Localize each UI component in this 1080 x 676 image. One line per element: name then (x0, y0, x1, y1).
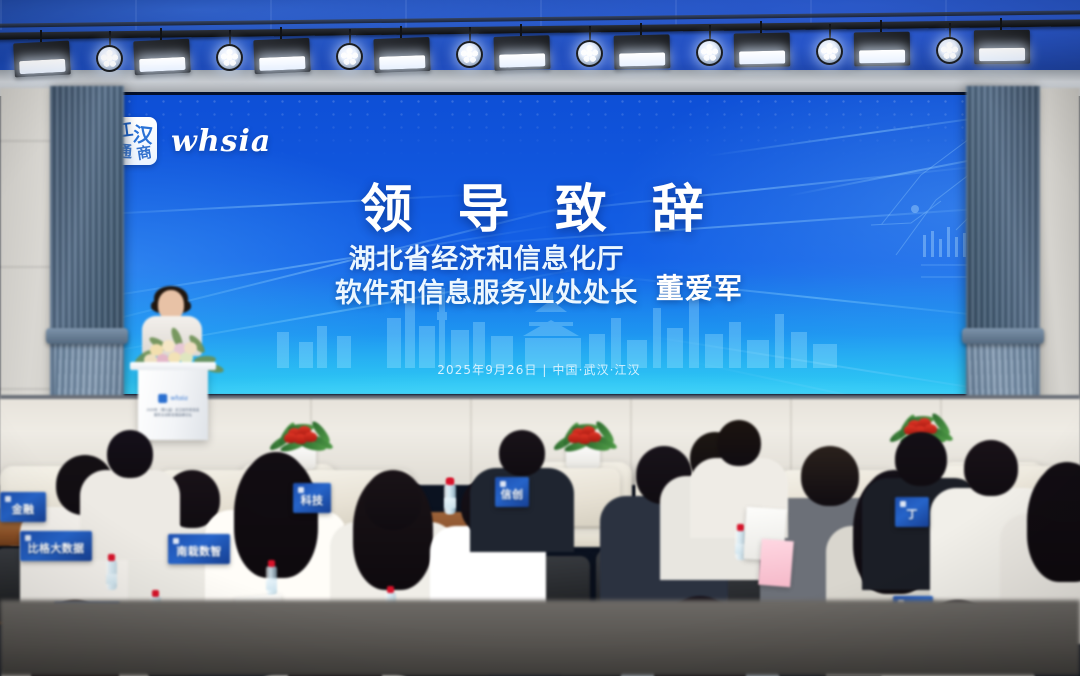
logo-char-2: 汉 (132, 125, 154, 147)
nameplate-logo-icon (5, 496, 11, 502)
water-bottle (266, 566, 277, 596)
floor (0, 600, 1080, 676)
podium-caption-1: 2025年（第九届）武汉软件和信息 (147, 408, 200, 412)
red-bloom (588, 432, 601, 442)
panel-light (854, 32, 911, 67)
par-light (96, 45, 123, 72)
speaker-name: 董爱军 (656, 267, 743, 307)
screen-subtitle-lines: 湖北省经济和信息化厅 软件和信息服务业处处长 (335, 243, 638, 311)
audience-person (80, 430, 180, 568)
red-bloom (284, 433, 297, 443)
person-head (717, 420, 761, 466)
nameplate-text: 信创 (501, 486, 524, 502)
brand-wordmark: whsia (171, 124, 271, 159)
panel-light (253, 38, 310, 74)
podium-logo-word: whsia (170, 395, 188, 402)
desk-nameplate: 信创 (495, 477, 529, 507)
person-head (107, 430, 153, 478)
curtain-right-tieback (962, 328, 1044, 344)
nameplate-text: 丁 (906, 506, 917, 522)
podium-logo: whsia (158, 394, 188, 403)
nameplate-text: 南栽数智 (176, 543, 221, 559)
conference-hall-photo: 江 汉 通 商 whsia 领 导 致 辞 湖北省经济和信息化厅 软件和信息服务… (0, 0, 1080, 676)
panel-light (974, 30, 1030, 65)
par-light (816, 38, 843, 65)
ceiling (0, 0, 1080, 96)
nameplate-logo-icon (25, 535, 31, 541)
panel-light (373, 37, 430, 73)
desk-nameplate: 南栽数智 (168, 534, 230, 564)
nameplate-text: 比格大数据 (28, 540, 85, 556)
logo-char-4: 商 (136, 146, 153, 163)
subtitle-line-2: 软件和信息服务业处处长 (335, 278, 638, 309)
screen-title: 领 导 致 辞 (87, 167, 991, 242)
nameplate-logo-icon (298, 487, 304, 493)
panel-light (13, 41, 71, 78)
par-light (456, 41, 483, 68)
water-bottle (106, 560, 117, 590)
person-head (499, 430, 545, 476)
flower-bud (162, 340, 175, 352)
person-torso (80, 470, 180, 560)
nameplate-text: 科技 (301, 492, 324, 508)
nameplate-logo-icon (500, 481, 506, 487)
subtitle-line-1: 湖北省经济和信息化厅 (349, 244, 624, 275)
panel-light (614, 34, 671, 69)
panel-light (493, 35, 550, 71)
flower-bud (184, 342, 197, 354)
person-head (1038, 462, 1080, 522)
plant-1 (268, 422, 332, 456)
par-light (576, 40, 603, 67)
curtain-left-tieback (46, 328, 128, 344)
par-light (936, 37, 963, 64)
par-light (696, 39, 723, 66)
podium-caption-2: 服务业创新发展高峰论坛 (154, 413, 192, 417)
nameplate-text: 金融 (12, 501, 35, 517)
panel-light (734, 32, 791, 67)
desk-nameplate: 比格大数据 (20, 531, 92, 561)
nameplate-logo-icon (173, 538, 179, 544)
screen-brand-logo: 江 汉 通 商 whsia (111, 117, 271, 165)
water-bottle (445, 484, 456, 514)
audience-paper (758, 539, 794, 587)
par-light (336, 43, 363, 70)
panel-light (133, 39, 191, 76)
par-light (216, 44, 243, 71)
desk-nameplate: 科技 (293, 483, 331, 513)
desk-nameplate: 丁 (895, 497, 929, 527)
desk-nameplate: 金融 (0, 492, 46, 522)
podium-logo-mark (158, 394, 167, 403)
podium-group: whsia 2025年（第九届）武汉软件和信息 服务业创新发展高峰论坛 (118, 290, 228, 440)
nameplate-logo-icon (900, 501, 906, 507)
red-bloom (304, 432, 317, 442)
person-head (364, 470, 422, 530)
podium-caption: 2025年（第九届）武汉软件和信息 服务业创新发展高峰论坛 (143, 408, 203, 419)
